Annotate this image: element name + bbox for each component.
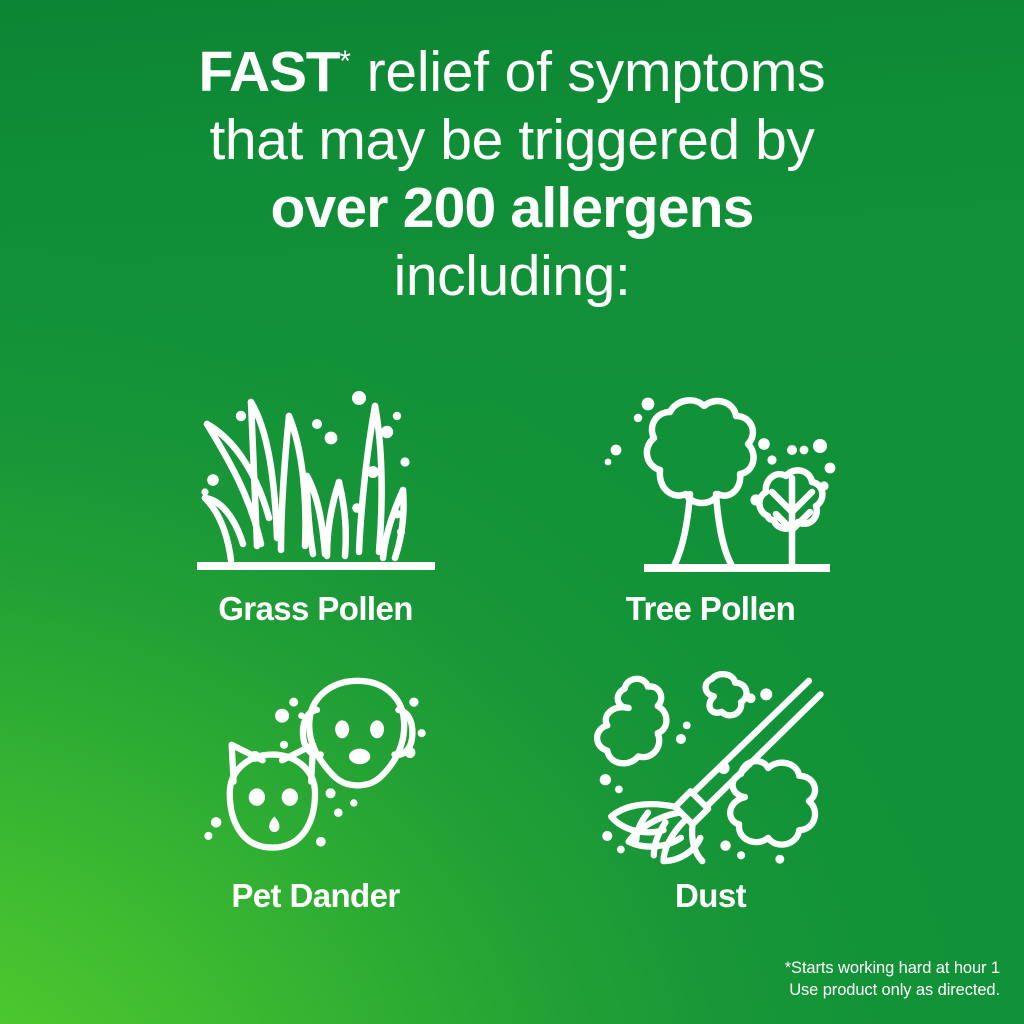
pollen-dots: [604, 398, 835, 506]
allergen-label-pet-dander: Pet Dander: [231, 879, 399, 912]
headline-line-3: over 200 allergens: [0, 180, 1024, 237]
headline-line-1: FAST* relief of symptoms: [0, 44, 1024, 101]
headline-asterisk: *: [339, 45, 351, 78]
headline-fast-word: FAST: [199, 40, 340, 104]
allergen-item-dust: Dust: [513, 675, 908, 948]
headline-line-1-rest: relief of symptoms: [351, 40, 826, 104]
headline-line-2: that may be triggered by: [0, 112, 1024, 169]
grass-pollen-icon: [191, 388, 441, 584]
headline-line-4: including:: [0, 248, 1024, 305]
allergen-item-grass-pollen: Grass Pollen: [118, 388, 513, 661]
footnote-disclaimer: *Starts working hard at hour 1 Use produ…: [785, 958, 1000, 1002]
promo-banner: FAST* relief of symptoms that may be tri…: [0, 0, 1024, 1024]
allergen-item-tree-pollen: Tree Pollen: [513, 388, 908, 661]
headline-block: FAST* relief of symptoms that may be tri…: [0, 44, 1024, 305]
tree-pollen-icon: [586, 388, 836, 584]
dust-icon: [586, 675, 836, 865]
allergen-label-dust: Dust: [675, 879, 746, 912]
footnote-line-1: *Starts working hard at hour 1: [785, 958, 1000, 980]
allergen-item-pet-dander: Pet Dander: [118, 675, 513, 948]
allergen-grid: Grass Pollen: [118, 388, 908, 948]
pet-dander-icon: [191, 675, 441, 865]
allergen-label-tree-pollen: Tree Pollen: [626, 592, 795, 625]
allergen-label-grass-pollen: Grass Pollen: [218, 592, 413, 625]
footnote-line-2: Use product only as directed.: [785, 980, 1000, 1002]
